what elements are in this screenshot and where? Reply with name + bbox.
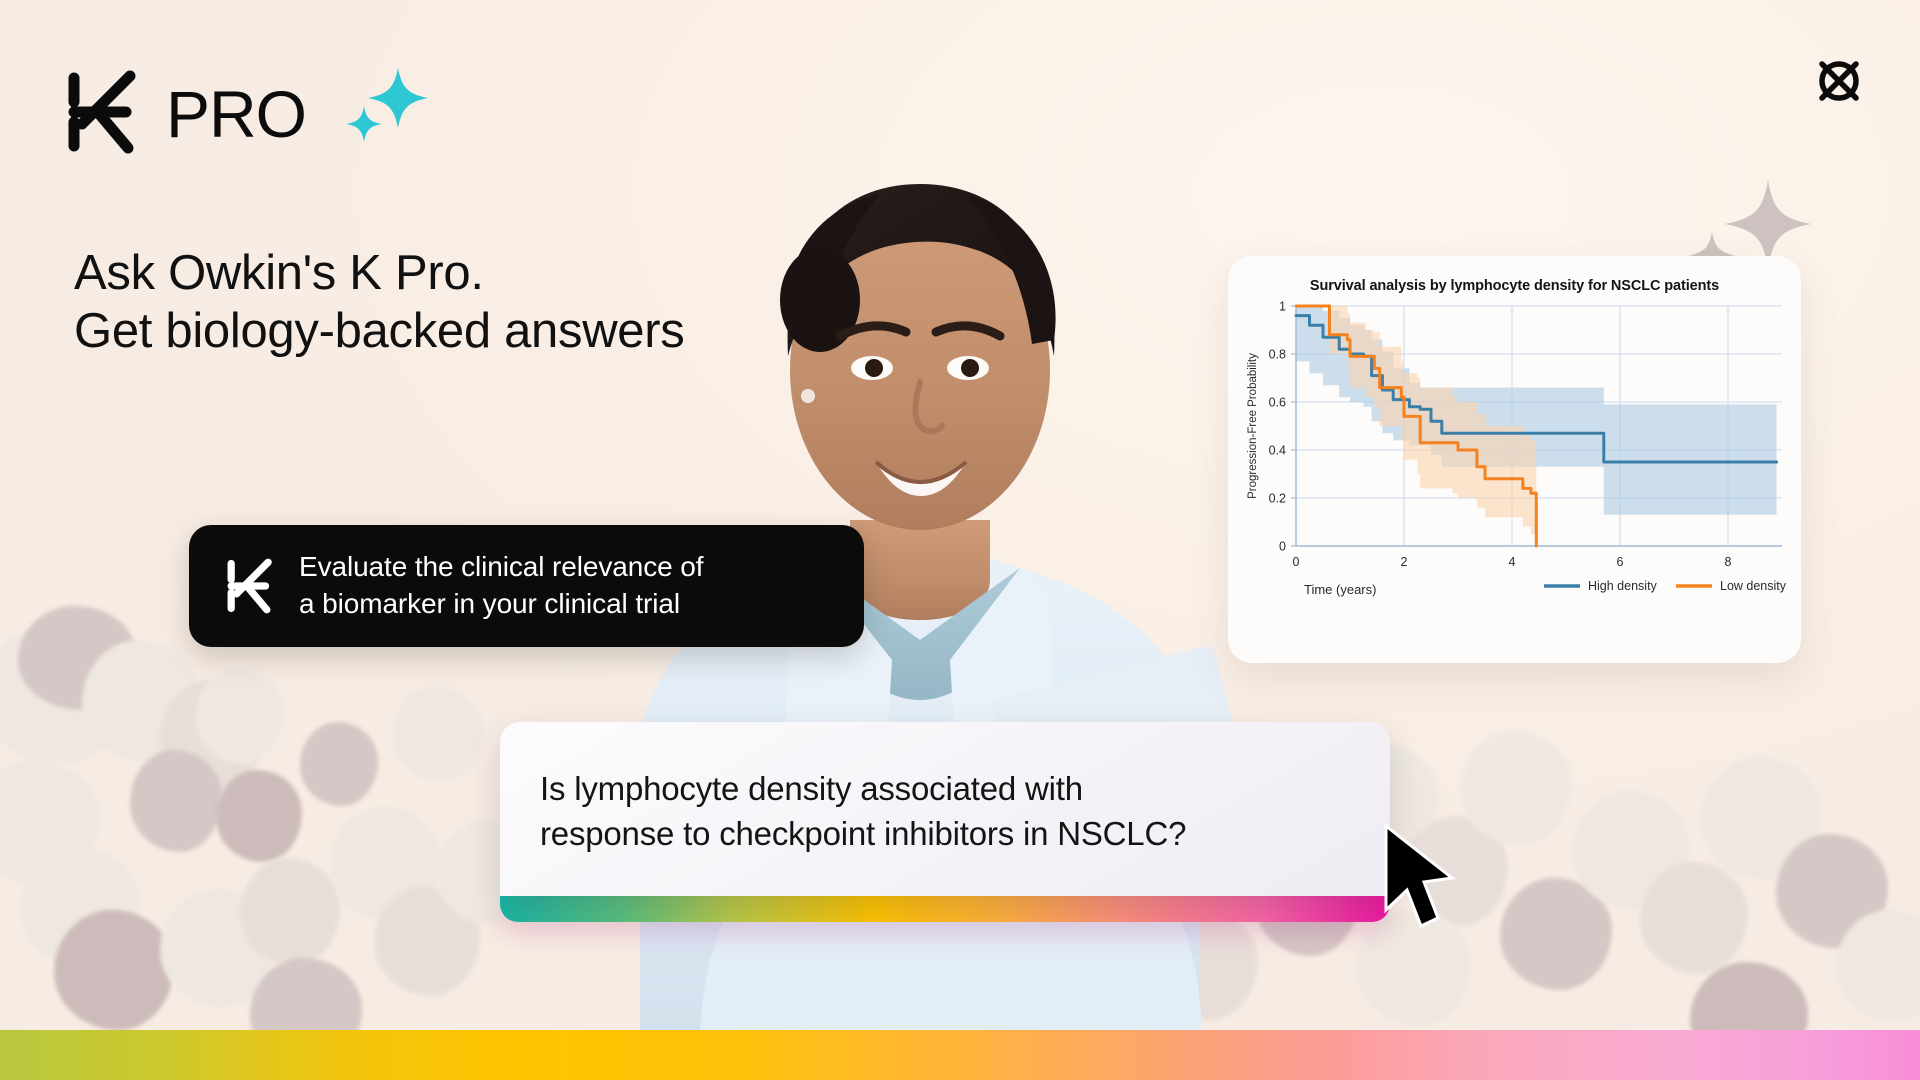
question-card-container[interactable]: Is lymphocyte density associated with re… (500, 722, 1390, 922)
owkin-k-logo-icon (62, 62, 140, 162)
chart-title: Survival analysis by lymphocyte density … (1228, 278, 1801, 294)
chart-legend[interactable]: High densityLow density (1544, 579, 1787, 593)
prompt-suggestion-card[interactable]: Evaluate the clinical relevance of a bio… (189, 525, 864, 647)
question-line-2: response to checkpoint inhibitors in NSC… (540, 811, 1350, 856)
pro-label: PRO (166, 76, 306, 152)
svg-text:Progression-Free Probability: Progression-Free Probability (1247, 353, 1259, 499)
prompt-text: Evaluate the clinical relevance of a bio… (299, 549, 703, 623)
chart-card[interactable]: Survival analysis by lymphocyte density … (1228, 256, 1801, 663)
owkin-circle-x-mark[interactable] (1810, 52, 1868, 115)
sparkle-decoration (336, 62, 436, 167)
svg-text:6: 6 (1617, 555, 1624, 569)
svg-text:0.2: 0.2 (1269, 492, 1286, 506)
footer-gradient-bar (0, 1030, 1920, 1080)
survival-chart[interactable]: 00.20.40.60.8102468 High densityLow dens… (1234, 296, 1794, 616)
question-card[interactable]: Is lymphocyte density associated with re… (500, 722, 1390, 896)
question-line-1: Is lymphocyte density associated with (540, 766, 1350, 811)
svg-text:2: 2 (1401, 555, 1408, 569)
svg-text:1: 1 (1279, 300, 1286, 314)
svg-text:Low density: Low density (1720, 579, 1787, 593)
svg-text:0: 0 (1279, 540, 1286, 554)
svg-text:Time (years): Time (years) (1304, 582, 1376, 597)
question-text: Is lymphocyte density associated with re… (540, 766, 1350, 856)
svg-text:0.8: 0.8 (1269, 348, 1286, 362)
accent-gradient-bar (500, 896, 1390, 922)
prompt-line-2: a biomarker in your clinical trial (299, 586, 703, 623)
headline-line-2: Get biology-backed answers (74, 303, 684, 361)
svg-text:0.6: 0.6 (1269, 396, 1286, 410)
svg-text:High density: High density (1588, 579, 1658, 593)
page-title: Ask Owkin's K Pro. Get biology-backed an… (74, 245, 684, 361)
svg-text:8: 8 (1725, 555, 1732, 569)
owkin-k-logo-icon (223, 553, 275, 619)
svg-text:0.4: 0.4 (1269, 444, 1286, 458)
prompt-line-1: Evaluate the clinical relevance of (299, 549, 703, 586)
svg-text:4: 4 (1509, 555, 1516, 569)
brand-logo[interactable]: PRO (62, 62, 306, 162)
mouse-cursor (1380, 822, 1460, 934)
svg-text:0: 0 (1293, 555, 1300, 569)
headline-line-1: Ask Owkin's K Pro. (74, 245, 684, 303)
